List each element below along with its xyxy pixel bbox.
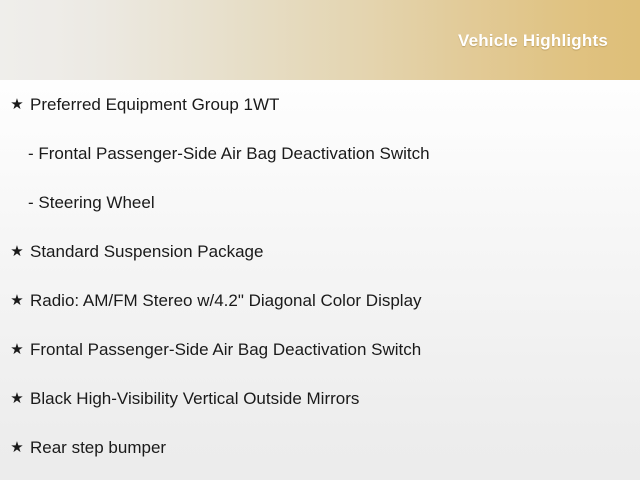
- list-item-label: Standard Suspension Package: [30, 227, 263, 276]
- star-icon: ★: [9, 80, 25, 129]
- star-icon: ★: [9, 276, 25, 325]
- list-item-label: Preferred Equipment Group 1WT: [30, 80, 279, 129]
- list-item: ★ Rear step bumper: [0, 423, 640, 472]
- list-item-label: - Steering Wheel: [28, 178, 155, 227]
- star-icon: ★: [9, 227, 25, 276]
- vehicle-highlights-panel: Vehicle Highlights ★ Preferred Equipment…: [0, 0, 640, 480]
- list-item-label: Frontal Passenger-Side Air Bag Deactivat…: [30, 325, 421, 374]
- page-title: Vehicle Highlights: [458, 31, 608, 51]
- list-item: ★ Standard Suspension Package: [0, 227, 640, 276]
- list-item: ★ Frontal Passenger-Side Air Bag Deactiv…: [0, 325, 640, 374]
- list-item-label: Rear step bumper: [30, 423, 166, 472]
- header-banner: Vehicle Highlights: [0, 0, 640, 80]
- list-item: ★ Radio: AM/FM Stereo w/4.2" Diagonal Co…: [0, 276, 640, 325]
- list-item: - Frontal Passenger-Side Air Bag Deactiv…: [0, 129, 640, 178]
- star-icon: ★: [9, 374, 25, 423]
- list-item-label: Black High-Visibility Vertical Outside M…: [30, 374, 359, 423]
- list-item: - Steering Wheel: [0, 178, 640, 227]
- star-icon: ★: [9, 325, 25, 374]
- highlights-list: ★ Preferred Equipment Group 1WT - Fronta…: [0, 80, 640, 480]
- star-icon: ★: [9, 423, 25, 472]
- list-item: ★ Preferred Equipment Group 1WT: [0, 80, 640, 129]
- list-item-label: - Frontal Passenger-Side Air Bag Deactiv…: [28, 129, 430, 178]
- list-item: ★ Black High-Visibility Vertical Outside…: [0, 374, 640, 423]
- list-item-label: Radio: AM/FM Stereo w/4.2" Diagonal Colo…: [30, 276, 422, 325]
